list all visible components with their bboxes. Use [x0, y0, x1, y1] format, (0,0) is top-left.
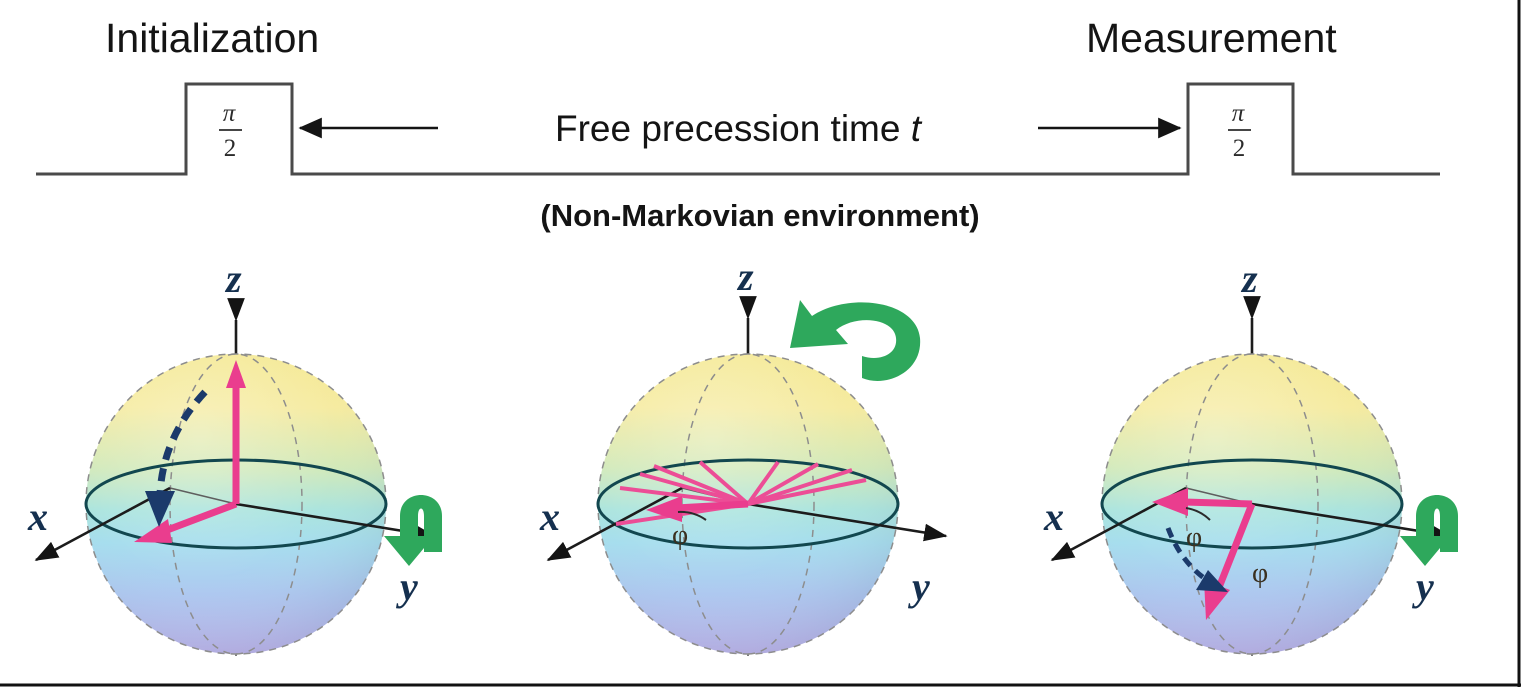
y-axis-label-sphere2: y — [908, 564, 930, 609]
environment-label: (Non-Markovian environment) — [540, 198, 979, 233]
y-axis-label-sphere1: y — [396, 564, 418, 609]
sphere-free-precession: z x y φ — [539, 254, 946, 656]
free-precession-variable: t — [911, 108, 923, 149]
pulse2-pi-over-2: π 2 — [1228, 100, 1251, 162]
measurement-label: Measurement — [1086, 15, 1337, 61]
pulse2-denominator: 2 — [1233, 135, 1246, 162]
x-axis-label-sphere3: x — [1043, 494, 1064, 539]
x-axis-label-sphere1: x — [27, 494, 48, 539]
free-precession-text: Free precession time — [555, 108, 911, 149]
diagram-canvas: Initialization Measurement π 2 π 2 Free … — [0, 0, 1521, 687]
pulse1-pi-over-2: π 2 — [219, 100, 242, 162]
pulse1-numerator: π — [223, 100, 237, 127]
phi-label-lower-sphere3: φ — [1252, 558, 1268, 589]
y-axis-label-sphere3: y — [1412, 564, 1434, 609]
x-axis-label-sphere2: x — [539, 494, 560, 539]
z-axis-label-sphere3: z — [1240, 256, 1258, 301]
sphere-initialization: z x y — [27, 256, 442, 656]
sphere-measurement: z x y φ φ — [1043, 256, 1458, 656]
figure-root: Initialization Measurement π 2 π 2 Free … — [0, 0, 1521, 687]
free-precession-label: Free precession time t — [555, 108, 923, 149]
phi-label-upper-sphere3: φ — [1186, 522, 1202, 553]
initialization-label: Initialization — [105, 15, 319, 61]
pulse2-numerator: π — [1232, 100, 1246, 127]
pulse1-denominator: 2 — [224, 135, 237, 162]
z-axis-label-sphere1: z — [224, 256, 242, 301]
pulse-sequence-group: Initialization Measurement π 2 π 2 Free … — [36, 15, 1440, 233]
z-axis-label-sphere2: z — [736, 254, 754, 299]
phi-label-sphere2: φ — [672, 520, 688, 551]
